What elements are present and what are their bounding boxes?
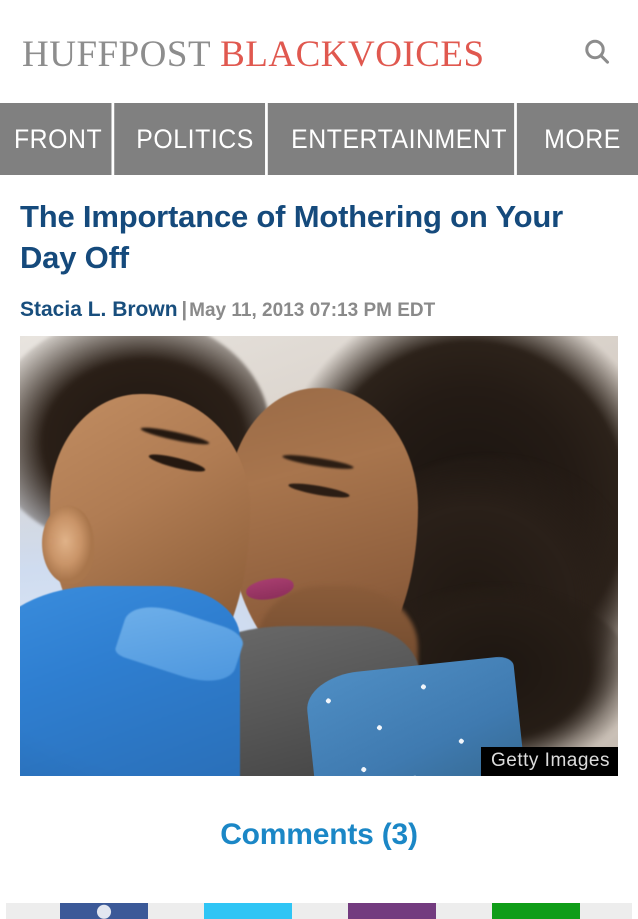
share-facebook-button[interactable] [60,903,148,919]
search-icon [582,37,612,67]
nav-item-politics[interactable]: POLITICS [125,103,268,175]
article-byline: Stacia L. Brown|May 11, 2013 07:13 PM ED… [20,299,618,320]
share-flipboard-button[interactable] [348,903,436,919]
publish-date: May 11, 2013 07:13 PM EDT [189,300,435,321]
social-bar-edge-right [632,903,638,919]
image-credit: Getty Images [481,747,618,776]
share-whatsapp-button[interactable] [492,903,580,919]
author-link[interactable]: Stacia L. Brown [20,298,178,321]
social-gap-3 [436,903,492,919]
byline-separator: | [182,299,188,321]
social-share-bar [0,903,638,919]
social-gap-2 [292,903,348,919]
article-container: The Importance of Mothering on Your Day … [0,175,638,852]
nav-item-entertainment[interactable]: ENTERTAINMENT [284,103,517,175]
lead-image: Getty Images [20,336,618,776]
search-button[interactable] [574,29,620,75]
lead-image-artwork [20,336,618,776]
comments-link[interactable]: Comments (3) [220,818,418,852]
social-spacer-left [0,903,60,919]
nav-item-front[interactable]: FRONT [5,103,114,175]
site-masthead: HUFFPOSTBLACKVOICES [0,0,638,103]
comments-section: Comments (3) [20,818,618,852]
facebook-icon [95,901,113,919]
article-headline: The Importance of Mothering on Your Day … [20,175,610,279]
brand-blackvoices: BLACKVOICES [220,34,485,75]
brand-huffpost: HUFFPOST [22,34,211,75]
social-bar-edge-left [0,903,6,919]
nav-item-more[interactable]: MORE [531,103,633,175]
social-gap-1 [148,903,204,919]
site-logo[interactable]: HUFFPOSTBLACKVOICES [22,36,485,73]
share-twitter-button[interactable] [204,903,292,919]
photo-vignette [20,336,618,776]
page-root: HUFFPOSTBLACKVOICES FRONT POLITICS ENTER… [0,0,638,919]
primary-nav: FRONT POLITICS ENTERTAINMENT MORE [0,103,638,175]
